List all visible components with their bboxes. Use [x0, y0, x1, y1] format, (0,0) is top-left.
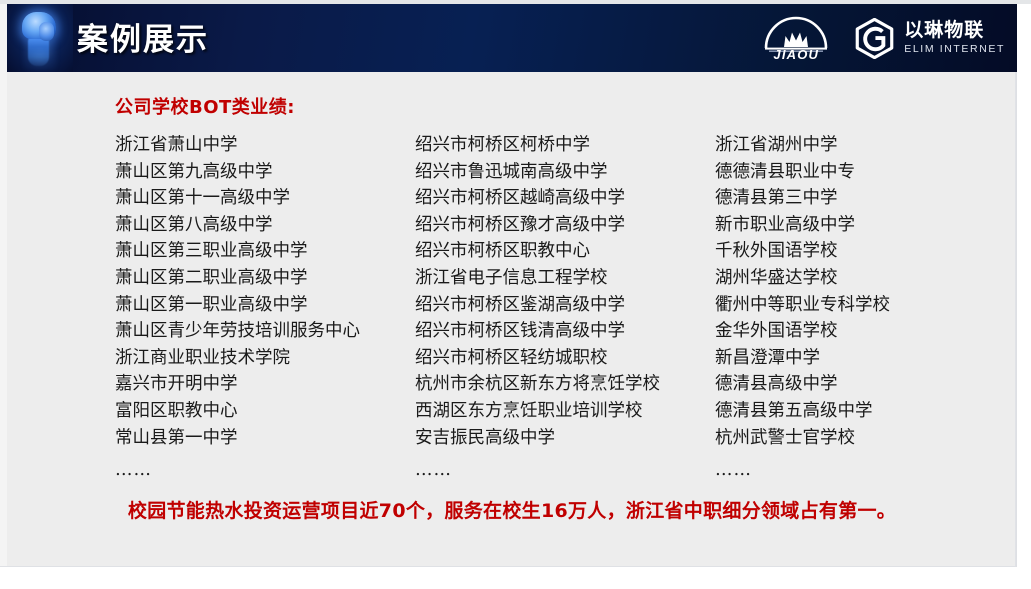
- list-item: 萧山区第三职业高级中学: [115, 238, 415, 265]
- list-item: 浙江商业职业技术学院: [115, 345, 415, 372]
- list-item: 绍兴市柯桥区豫才高级中学: [415, 212, 715, 239]
- fist-thumb: [39, 22, 54, 41]
- list-item: 金华外国语学校: [715, 318, 1015, 345]
- jiaou-wordmark: JIAOU: [760, 47, 832, 62]
- section-title: 公司学校BOT类业绩:: [115, 93, 295, 119]
- summary-footnote: 校园节能热水投资运营项目近70个，服务在校生16万人，浙江省中职细分领域占有第一…: [7, 496, 1017, 523]
- list-item: 萧山区第十一高级中学: [115, 185, 415, 212]
- list-ellipsis: ……: [115, 457, 415, 484]
- slide-edge-right: [1017, 0, 1031, 589]
- school-column-2: 绍兴市柯桥区柯桥中学 绍兴市鲁迅城南高级中学 绍兴市柯桥区越崎高级中学 绍兴市柯…: [415, 132, 715, 484]
- school-list-columns: 浙江省萧山中学 萧山区第九高级中学 萧山区第十一高级中学 萧山区第八高级中学 萧…: [7, 132, 1017, 484]
- list-item: 萧山区第一职业高级中学: [115, 292, 415, 319]
- list-item: 常山县第一中学: [115, 425, 415, 452]
- list-item: 德清县第三中学: [715, 185, 1015, 212]
- list-item: 新市职业高级中学: [715, 212, 1015, 239]
- list-ellipsis: ……: [715, 457, 1015, 484]
- list-item: 浙江省湖州中学: [715, 132, 1015, 159]
- list-item: 杭州武警士官学校: [715, 425, 1015, 452]
- list-item: 绍兴市柯桥区轻纺城职校: [415, 345, 715, 372]
- list-item: 绍兴市柯桥区越崎高级中学: [415, 185, 715, 212]
- list-item: 安吉振民高级中学: [415, 425, 715, 452]
- list-item: 浙江省萧山中学: [115, 132, 415, 159]
- elim-internet-logo: 以琳物联 ELIM INTERNET: [854, 18, 1005, 59]
- jiaou-logo: JIAOU: [760, 14, 832, 62]
- list-item: 嘉兴市开明中学: [115, 371, 415, 398]
- slide-body: 公司学校BOT类业绩: 浙江省萧山中学 萧山区第九高级中学 萧山区第十一高级中学…: [7, 72, 1017, 567]
- list-item: 衢州中等职业专科学校: [715, 292, 1015, 319]
- elim-name-cn: 以琳物联: [904, 21, 1005, 40]
- school-column-3: 浙江省湖州中学 德德清县职业中专 德清县第三中学 新市职业高级中学 千秋外国语学…: [715, 132, 1015, 484]
- list-item: 萧山区第九高级中学: [115, 159, 415, 186]
- list-item: 湖州华盛达学校: [715, 265, 1015, 292]
- list-item: 绍兴市柯桥区职教中心: [415, 238, 715, 265]
- g-hexagon-icon: [854, 18, 895, 59]
- list-item: 新昌澄潭中学: [715, 345, 1015, 372]
- list-item: 萧山区青少年劳技培训服务中心: [115, 318, 415, 345]
- school-column-1: 浙江省萧山中学 萧山区第九高级中学 萧山区第十一高级中学 萧山区第八高级中学 萧…: [115, 132, 415, 484]
- list-item: 绍兴市柯桥区钱清高级中学: [415, 318, 715, 345]
- list-item: 富阳区职教中心: [115, 398, 415, 425]
- slide-header: 案例展示 JIAOU 以琳物联 ELIM INTERNET: [7, 4, 1017, 72]
- page-title: 案例展示: [77, 14, 209, 59]
- list-ellipsis: ……: [415, 457, 715, 484]
- elim-wordmark: 以琳物联 ELIM INTERNET: [904, 21, 1005, 55]
- raised-fist-icon: [19, 10, 61, 68]
- slide-edge-bottom: [0, 567, 1031, 589]
- raised-fist-graphic: [7, 4, 73, 72]
- slide-edge-left: [0, 0, 7, 589]
- list-item: 绍兴市鲁迅城南高级中学: [415, 159, 715, 186]
- list-item: 萧山区第二职业高级中学: [115, 265, 415, 292]
- slide-canvas: 案例展示 JIAOU 以琳物联 ELIM INTERNET: [0, 0, 1031, 589]
- list-item: 杭州市余杭区新东方将烹饪学校: [415, 371, 715, 398]
- list-item: 德德清县职业中专: [715, 159, 1015, 186]
- logo-group: JIAOU 以琳物联 ELIM INTERNET: [760, 4, 1013, 72]
- list-item: 绍兴市柯桥区柯桥中学: [415, 132, 715, 159]
- list-item: 浙江省电子信息工程学校: [415, 265, 715, 292]
- list-item: 德清县高级中学: [715, 371, 1015, 398]
- list-item: 德清县第五高级中学: [715, 398, 1015, 425]
- list-item: 千秋外国语学校: [715, 238, 1015, 265]
- list-item: 绍兴市柯桥区鉴湖高级中学: [415, 292, 715, 319]
- list-item: 萧山区第八高级中学: [115, 212, 415, 239]
- list-item: 西湖区东方烹饪职业培训学校: [415, 398, 715, 425]
- elim-name-en: ELIM INTERNET: [904, 44, 1005, 55]
